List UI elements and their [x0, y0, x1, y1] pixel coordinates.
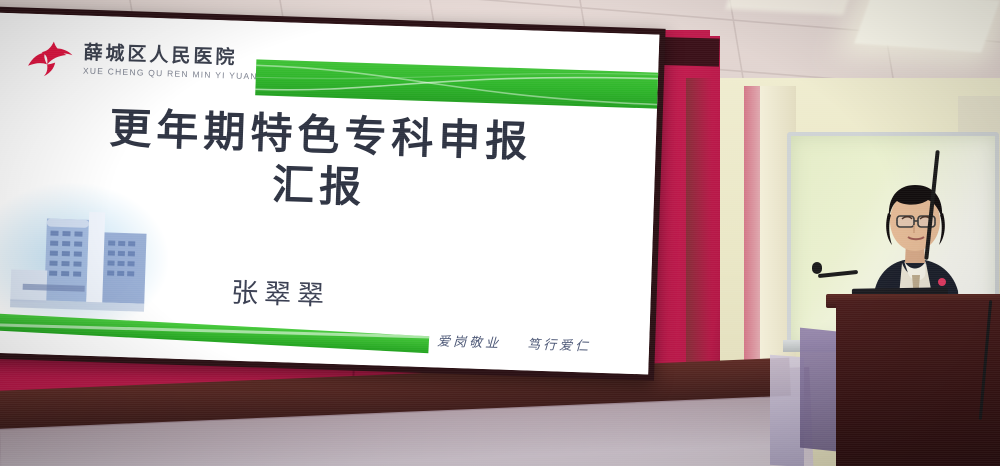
- podium: [836, 300, 1000, 466]
- slide-presenter-name: 张翠翠: [150, 268, 411, 316]
- chair-back: [770, 355, 804, 466]
- slide-bottom-bar: [0, 312, 429, 354]
- screenshot-scene: 薛城区人民医院 XUE CHENG QU REN MIN YI YUAN 更年期…: [0, 0, 1000, 466]
- hospital-logo: 薛城区人民医院 XUE CHENG QU REN MIN YI YUAN: [22, 38, 259, 86]
- hospital-logo-text: 薛城区人民医院 XUE CHENG QU REN MIN YI YUAN: [83, 44, 259, 81]
- hospital-name-pinyin: XUE CHENG QU REN MIN YI YUAN: [83, 67, 258, 81]
- band-curve-graphic-icon: [255, 59, 659, 109]
- red-bird-logo-icon: [22, 38, 75, 80]
- slide-slogan: 爱岗敬业 笃行爱仁: [437, 330, 592, 354]
- slogan-left: 爱岗敬业: [437, 330, 502, 351]
- bottom-bar-highlight: [0, 322, 429, 338]
- projection-screen-frame: 薛城区人民医院 XUE CHENG QU REN MIN YI YUAN 更年期…: [0, 6, 666, 381]
- building-illustration-icon: [0, 199, 156, 322]
- hospital-name-cn: 薛城区人民医院: [83, 44, 259, 69]
- presentation-slide: 薛城区人民医院 XUE CHENG QU REN MIN YI YUAN 更年期…: [0, 12, 659, 374]
- slogan-right: 笃行爱仁: [527, 333, 592, 354]
- slide-title-line1: 更年期特色专科申报: [109, 107, 533, 167]
- hospital-building-photo: [0, 180, 170, 336]
- ceiling-light-panel: [854, 0, 1000, 52]
- projection-screen: 薛城区人民医院 XUE CHENG QU REN MIN YI YUAN 更年期…: [0, 12, 659, 374]
- slide-green-band: [255, 59, 659, 109]
- microphone-head-icon: [812, 262, 822, 274]
